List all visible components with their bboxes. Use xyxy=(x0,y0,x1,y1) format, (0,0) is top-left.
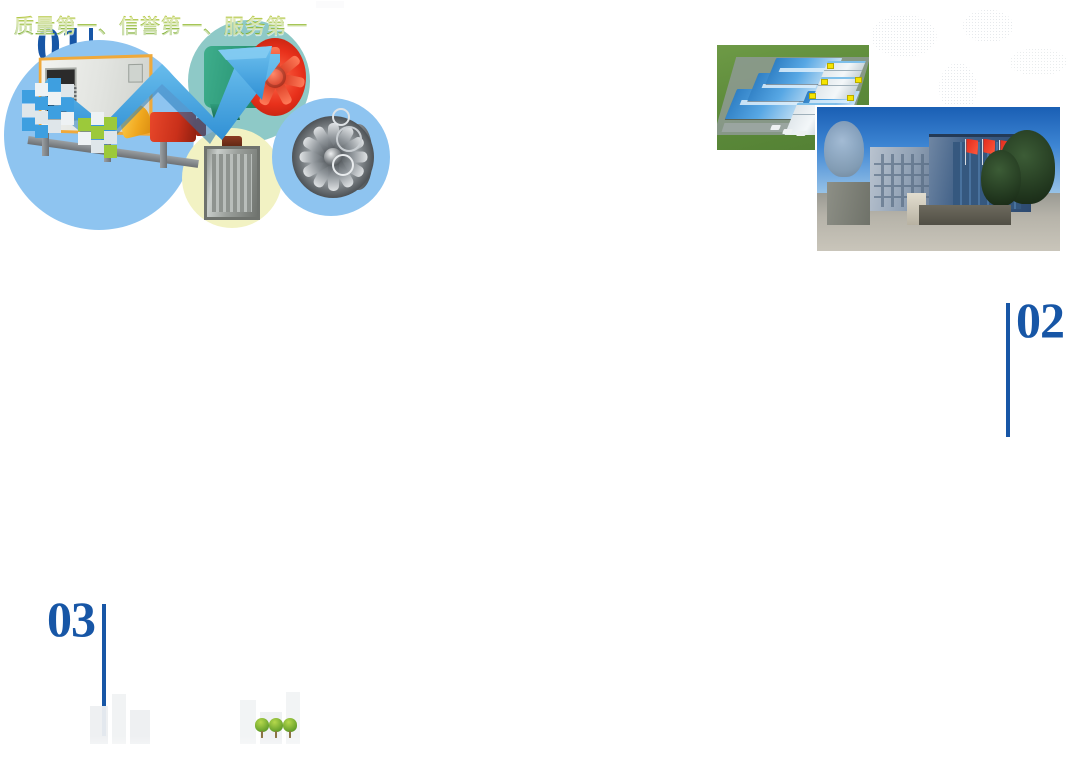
aerial-vehicle xyxy=(796,131,807,136)
office-bare-tree xyxy=(824,121,864,177)
top-edge-artifact xyxy=(316,1,344,8)
section-number-03: 03 xyxy=(47,595,95,643)
aerial-marker-icon xyxy=(809,93,816,99)
section-rule-02 xyxy=(1006,303,1010,437)
aerial-marker-icon xyxy=(821,79,828,85)
office-boundary-wall xyxy=(919,205,1011,225)
page-root: 01 02 03 xyxy=(0,0,1074,772)
section-marker-02: 02 xyxy=(1006,296,1064,437)
aerial-vehicle xyxy=(770,125,781,130)
red-flag-icon xyxy=(966,139,978,155)
air-filter-box xyxy=(204,146,260,220)
office-building-photo xyxy=(815,105,1062,253)
aerial-marker-icon xyxy=(827,63,834,69)
aerial-vehicle xyxy=(782,129,793,134)
office-gate-house xyxy=(827,182,871,225)
section-number-02: 02 xyxy=(1016,296,1064,344)
flag-pole xyxy=(965,139,966,165)
aerial-marker-icon xyxy=(855,77,862,83)
mixed-flow-fan-impeller xyxy=(292,116,374,198)
business-chart-graphic: 质量第一、信誉第一、服务第一 xyxy=(0,238,409,413)
office-tree xyxy=(981,150,1021,206)
aerial-marker-icon xyxy=(847,95,854,101)
flag-pole xyxy=(982,139,983,165)
